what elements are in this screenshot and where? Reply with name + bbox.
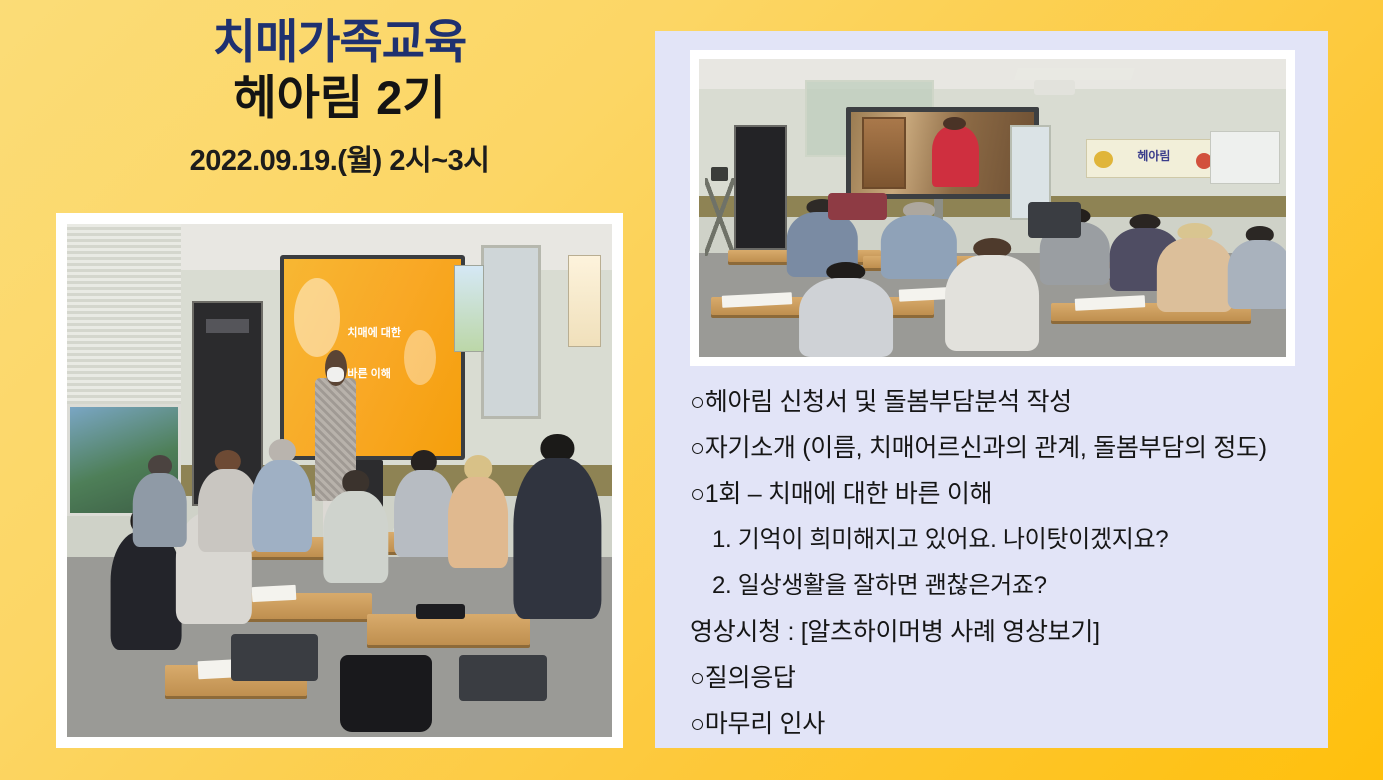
window-blinds [67, 224, 181, 404]
backpack [340, 655, 433, 732]
chair [1028, 202, 1081, 238]
tv-monitor-screen [851, 112, 1035, 194]
chair [231, 634, 318, 680]
ceiling-light [1014, 68, 1135, 80]
participant [132, 455, 187, 547]
poster-title-secondary: 헤아림 2기 [56, 69, 623, 126]
poster-date-time: 2022.09.19.(월) 2시~3시 [56, 137, 623, 179]
title-block: 치매가족교육 헤아림 2기 2022.09.19.(월) 2시~3시 [56, 14, 623, 179]
agenda-item: ○자기소개 (이름, 치매어르신과의 관계, 돌봄부담의 정도) [690, 425, 1314, 471]
participant [514, 434, 601, 619]
chair [459, 655, 546, 701]
participant [946, 238, 1040, 351]
whiteboard [1210, 131, 1280, 185]
info-panel: 헤아림 [655, 31, 1328, 748]
handout [252, 585, 296, 603]
equipment-rack [734, 125, 787, 250]
participant [394, 450, 454, 558]
poster-root: 치매가족교육 헤아림 2기 2022.09.19.(월) 2시~3시 치매에 대… [0, 0, 1383, 780]
agenda-item: ○마무리 인사 [690, 701, 1314, 747]
agenda-item: ○질의응답 [690, 655, 1314, 701]
projection-screen-frame: 치매에 대한 바른 이해 [280, 255, 465, 460]
participant [1227, 226, 1286, 309]
wall-poster-right [568, 255, 601, 347]
agenda-list: ○헤아림 신청서 및 돌봄부담분석 작성 ○자기소개 (이름, 치매어르신과의 … [690, 379, 1314, 747]
wall-banner: 헤아림 [1086, 139, 1221, 178]
classroom-door [481, 245, 541, 419]
participant [449, 455, 509, 568]
participant [799, 262, 893, 357]
photo-card-left: 치매에 대한 바른 이해 [56, 213, 623, 748]
participant [323, 470, 388, 583]
projection-screen: 치매에 대한 바른 이해 [284, 259, 461, 456]
photo-classroom-lecture: 치매에 대한 바른 이해 [67, 224, 612, 737]
participant [1157, 223, 1233, 312]
participant [198, 450, 258, 553]
agenda-item: ○1회 – 치매에 대한 바른 이해 [690, 471, 1314, 517]
camera-tripod [705, 178, 734, 255]
agenda-item: 1. 기억이 희미해지고 있어요. 나이탓이겠지요? [690, 517, 1314, 563]
phone-on-desk [416, 604, 465, 619]
video-subject [932, 126, 980, 187]
photo-card-right: 헤아림 [690, 50, 1295, 366]
wall-banner-text: 헤아림 [1087, 147, 1220, 164]
chair [828, 193, 887, 220]
wall-poster-left [454, 265, 484, 352]
photo-video-viewing: 헤아림 [699, 59, 1286, 357]
cctv-camera-icon [1034, 80, 1075, 95]
participant [252, 439, 312, 552]
screen-text-line1: 치매에 대한 [347, 324, 401, 340]
agenda-item: 영상시청 : [알츠하이머병 사례 영상보기] [690, 609, 1314, 655]
agenda-item: ○헤아림 신청서 및 돌봄부담분석 작성 [690, 379, 1314, 425]
poster-title-primary: 치매가족교육 [56, 14, 623, 69]
agenda-item: 2. 일상생활을 잘하면 괜찮은거죠? [690, 563, 1314, 609]
